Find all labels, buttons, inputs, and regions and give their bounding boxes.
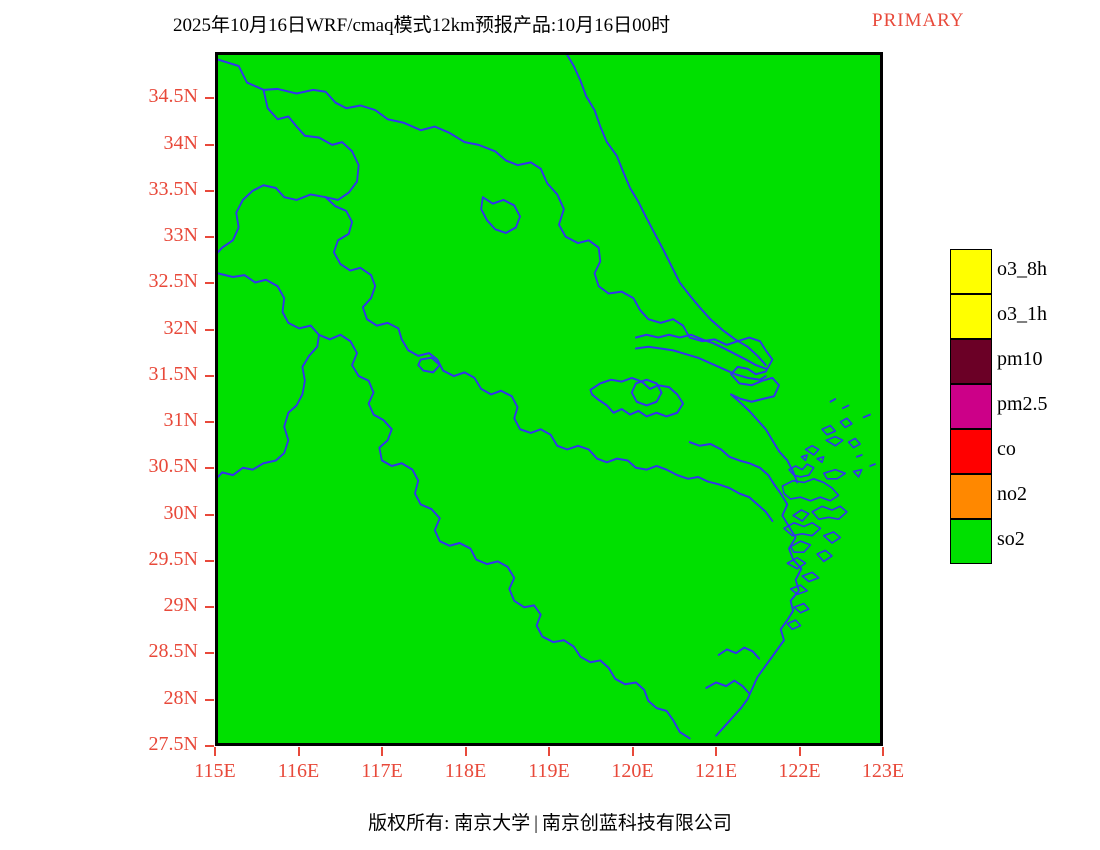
legend-label: o3_8h bbox=[997, 258, 1047, 281]
y-tick bbox=[205, 329, 214, 331]
legend-color-swatch bbox=[950, 294, 992, 339]
y-axis-label: 29N bbox=[68, 594, 198, 617]
y-axis-label: 30N bbox=[68, 502, 198, 525]
y-tick bbox=[205, 97, 214, 99]
y-axis-label: 31.5N bbox=[68, 363, 198, 386]
footer-left: 版权所有: 南京大学 bbox=[368, 808, 530, 835]
legend-color-swatch bbox=[950, 339, 992, 384]
y-axis-label: 34.5N bbox=[68, 85, 198, 108]
y-tick bbox=[205, 467, 214, 469]
y-tick bbox=[205, 282, 214, 284]
y-tick bbox=[205, 745, 214, 747]
province-boundaries bbox=[218, 55, 875, 738]
page-title: 2025年10月16日WRF/cmaq模式12km预报产品:10月16日00时 bbox=[173, 10, 670, 37]
y-tick bbox=[205, 421, 214, 423]
y-axis-label: 32.5N bbox=[68, 270, 198, 293]
y-axis-label: 28N bbox=[68, 687, 198, 710]
x-tick bbox=[381, 747, 383, 756]
y-axis-label: 27.5N bbox=[68, 733, 198, 756]
x-axis-label: 120E bbox=[593, 760, 673, 783]
y-tick bbox=[205, 699, 214, 701]
x-axis-label: 119E bbox=[509, 760, 589, 783]
legend-label: pm10 bbox=[997, 348, 1043, 371]
legend-color-swatch bbox=[950, 384, 992, 429]
y-tick bbox=[205, 236, 214, 238]
legend-color-swatch bbox=[950, 519, 992, 564]
x-axis-label: 123E bbox=[843, 760, 923, 783]
legend-color-swatch bbox=[950, 429, 992, 474]
legend-label: pm2.5 bbox=[997, 393, 1048, 416]
x-tick bbox=[548, 747, 550, 756]
y-axis-label: 32N bbox=[68, 317, 198, 340]
x-axis-label: 121E bbox=[676, 760, 756, 783]
x-axis-label: 115E bbox=[175, 760, 255, 783]
y-axis-label: 28.5N bbox=[68, 640, 198, 663]
y-tick bbox=[205, 514, 214, 516]
footer-separator: | bbox=[530, 813, 542, 835]
y-axis-label: 33.5N bbox=[68, 178, 198, 201]
x-axis-label: 116E bbox=[259, 760, 339, 783]
title-bar: 2025年10月16日WRF/cmaq模式12km预报产品:10月16日00时 … bbox=[0, 10, 1100, 38]
primary-pollutant-label: PRIMARY bbox=[872, 10, 965, 32]
y-tick bbox=[205, 606, 214, 608]
x-tick bbox=[214, 747, 216, 756]
x-tick bbox=[715, 747, 717, 756]
map-svg bbox=[218, 55, 880, 743]
forecast-map[interactable] bbox=[215, 52, 883, 746]
x-tick bbox=[799, 747, 801, 756]
legend-color-swatch bbox=[950, 474, 992, 519]
y-axis-label: 31N bbox=[68, 409, 198, 432]
x-axis-label: 118E bbox=[426, 760, 506, 783]
y-tick bbox=[205, 190, 214, 192]
legend-label: so2 bbox=[997, 528, 1025, 551]
y-tick bbox=[205, 375, 214, 377]
y-tick bbox=[205, 560, 214, 562]
copyright-footer: 版权所有: 南京大学|南京创蓝科技有限公司 bbox=[0, 808, 1100, 835]
footer-right: 南京创蓝科技有限公司 bbox=[542, 808, 732, 835]
x-tick bbox=[465, 747, 467, 756]
y-axis-label: 34N bbox=[68, 132, 198, 155]
y-tick bbox=[205, 652, 214, 654]
x-tick bbox=[298, 747, 300, 756]
legend-color-swatch bbox=[950, 249, 992, 294]
x-tick bbox=[632, 747, 634, 756]
legend-label: o3_1h bbox=[997, 303, 1047, 326]
x-axis-label: 122E bbox=[760, 760, 840, 783]
y-tick bbox=[205, 144, 214, 146]
y-axis-label: 29.5N bbox=[68, 548, 198, 571]
legend-label: no2 bbox=[997, 483, 1027, 506]
x-axis-label: 117E bbox=[342, 760, 422, 783]
legend-label: co bbox=[997, 438, 1016, 461]
y-axis-label: 33N bbox=[68, 224, 198, 247]
x-tick bbox=[882, 747, 884, 756]
y-axis-label: 30.5N bbox=[68, 455, 198, 478]
